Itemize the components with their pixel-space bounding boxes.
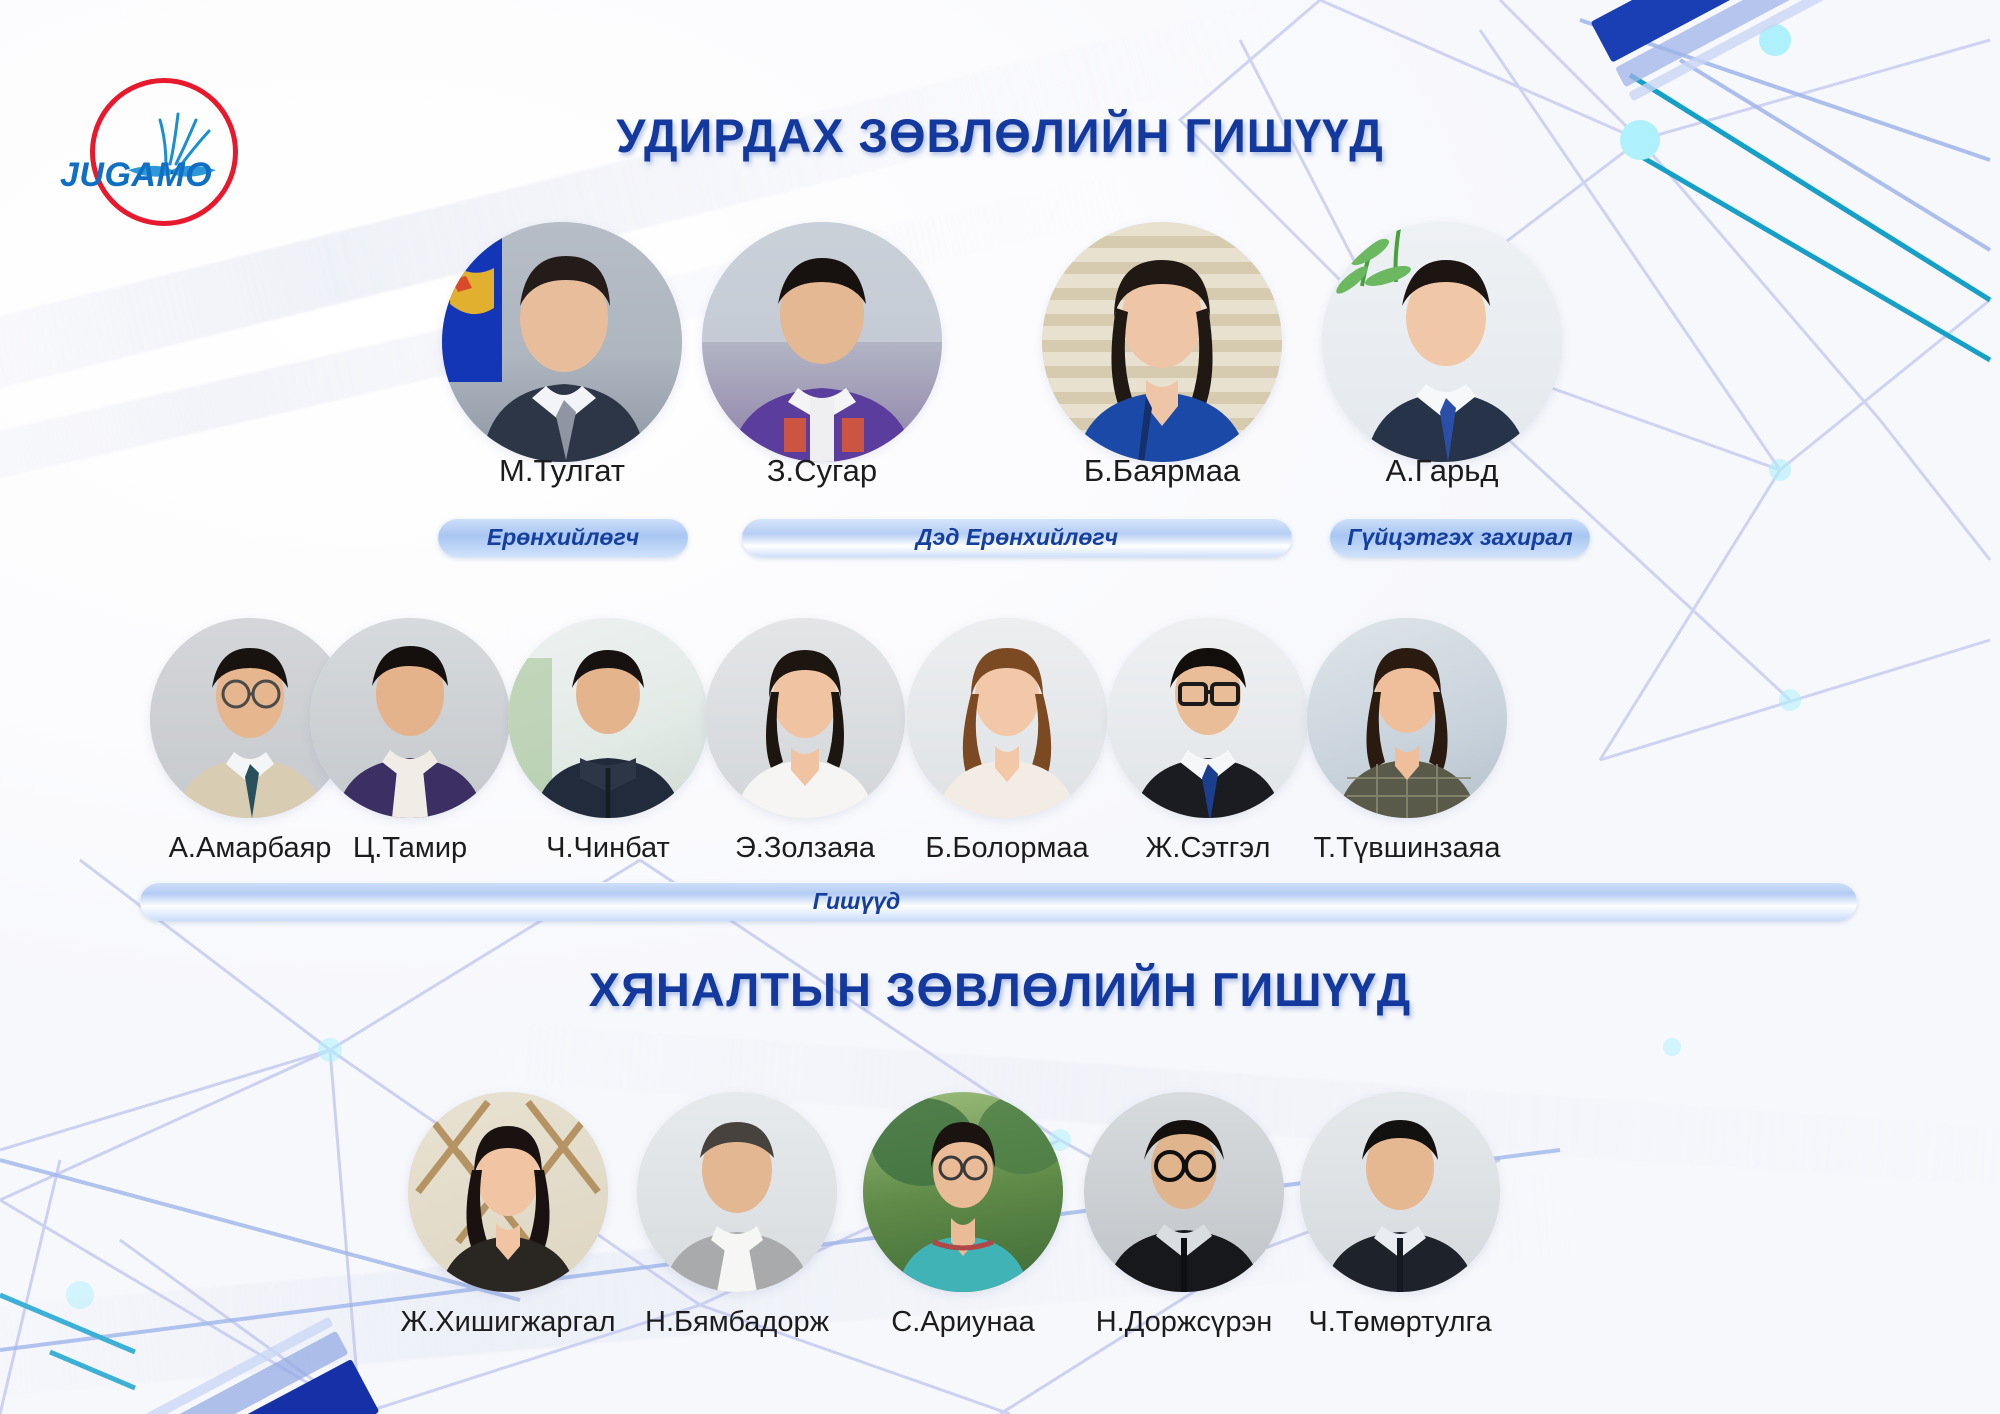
role-badge-vice-president: Дэд Ерөнхийлөгч bbox=[742, 518, 1292, 557]
portrait-illustration bbox=[1042, 222, 1282, 462]
portrait-illustration bbox=[863, 1092, 1063, 1292]
portrait-illustration bbox=[1084, 1092, 1284, 1292]
member-name: А.Гарьд bbox=[1385, 453, 1498, 489]
portrait-illustration bbox=[442, 222, 682, 462]
member-name: Ч.Чинбат bbox=[546, 832, 670, 865]
member-name: А.Амарбаяр bbox=[169, 832, 332, 865]
portrait-illustration bbox=[907, 618, 1107, 818]
member-photo-s-ariunaa bbox=[863, 1092, 1063, 1292]
portrait-illustration bbox=[508, 618, 708, 818]
member-photo-j-setgel bbox=[1108, 618, 1308, 818]
portrait-illustration bbox=[705, 618, 905, 818]
section-title-board: УДИРДАХ ЗӨВЛӨЛИЙН ГИШҮҮД bbox=[0, 108, 2000, 163]
member-photo-ts-tamir bbox=[310, 618, 510, 818]
portrait-illustration bbox=[1307, 618, 1507, 818]
portrait-illustration bbox=[1322, 222, 1562, 462]
role-badge-members: Гишүүд bbox=[140, 882, 1857, 921]
member-name: Ц.Тамир bbox=[353, 832, 467, 865]
member-name: С.Ариунаа bbox=[891, 1306, 1034, 1339]
poster-canvas: JUGAMO УДИРДАХ ЗӨВЛӨЛИЙН ГИШҮҮД М.Тулгат bbox=[0, 0, 2000, 1414]
member-photo-z-sugar bbox=[702, 222, 942, 462]
member-photo-e-zolzaya bbox=[705, 618, 905, 818]
member-name: Э.Золзаяа bbox=[735, 832, 875, 865]
role-badge-president: Ерөнхийлөгч bbox=[438, 518, 688, 557]
member-photo-a-gard bbox=[1322, 222, 1562, 462]
member-photo-b-bolormaa bbox=[907, 618, 1107, 818]
member-name: Б.Баярмаа bbox=[1084, 453, 1240, 489]
corner-ribbon-bottom-left bbox=[0, 1209, 379, 1414]
member-photo-ch-chinbat bbox=[508, 618, 708, 818]
portrait-illustration bbox=[310, 618, 510, 818]
member-name: Б.Болормаа bbox=[925, 832, 1088, 865]
role-badge-executive-director: Гүйцэтгэх захирал bbox=[1330, 518, 1590, 557]
member-photo-t-tuvshinzaya bbox=[1307, 618, 1507, 818]
member-name: Н.Доржсүрэн bbox=[1096, 1306, 1273, 1339]
portrait-illustration bbox=[702, 222, 942, 462]
member-name: Т.Түвшинзаяа bbox=[1314, 832, 1501, 865]
member-photo-n-dorjsuren bbox=[1084, 1092, 1284, 1292]
member-photo-m-tulgat bbox=[442, 222, 682, 462]
member-name: З.Сугар bbox=[767, 453, 877, 489]
portrait-illustration bbox=[1108, 618, 1308, 818]
portrait-illustration bbox=[637, 1092, 837, 1292]
member-photo-b-bayarmaa bbox=[1042, 222, 1282, 462]
member-name: Н.Бямбадорж bbox=[645, 1306, 829, 1339]
member-name: Ж.Хишигжаргал bbox=[400, 1306, 615, 1339]
member-photo-ch-tumurtulga bbox=[1300, 1092, 1500, 1292]
member-photo-n-byambadorj bbox=[637, 1092, 837, 1292]
member-name: Ж.Сэтгэл bbox=[1146, 832, 1271, 865]
portrait-illustration bbox=[1300, 1092, 1500, 1292]
member-name: М.Тулгат bbox=[499, 453, 625, 489]
member-name: Ч.Төмөртулга bbox=[1308, 1306, 1491, 1339]
member-photo-j-khishigjargal bbox=[408, 1092, 608, 1292]
portrait-illustration bbox=[408, 1092, 608, 1292]
section-title-control: ХЯНАЛТЫН ЗӨВЛӨЛИЙН ГИШҮҮД bbox=[0, 962, 2000, 1017]
